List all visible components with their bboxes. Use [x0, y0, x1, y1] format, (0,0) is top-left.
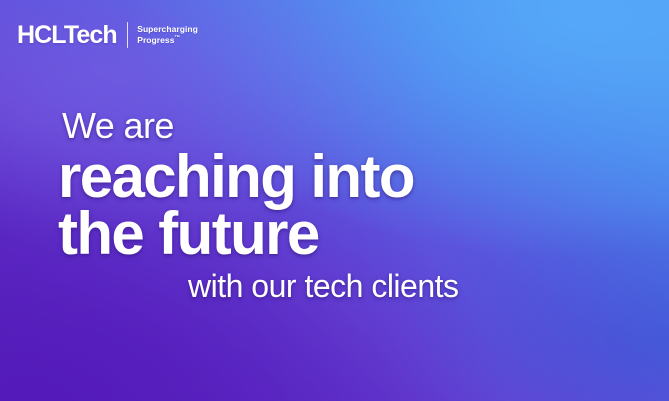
logo-tagline: Supercharging Progress™ — [137, 24, 198, 46]
headline-line-2: reaching into — [58, 146, 459, 207]
trademark-symbol: ™ — [174, 35, 180, 41]
headline-line-3: the future — [58, 203, 459, 264]
logo-tagline-progress: Progress — [137, 35, 174, 45]
hcltech-logo[interactable]: HCLTech Supercharging Progress™ — [17, 22, 198, 48]
headline-line-4: with our tech clients — [188, 270, 459, 302]
headline-line-1: We are — [62, 108, 459, 144]
hcltech-promo-banner: HCLTech Supercharging Progress™ We are r… — [0, 0, 669, 401]
logo-tagline-line-2: Progress™ — [137, 35, 198, 46]
logo-divider — [127, 22, 129, 48]
hcltech-wordmark: HCLTech — [17, 23, 117, 48]
headline-block: We are reaching into the future with our… — [62, 108, 459, 302]
logo-tagline-line-1: Supercharging — [137, 24, 198, 35]
